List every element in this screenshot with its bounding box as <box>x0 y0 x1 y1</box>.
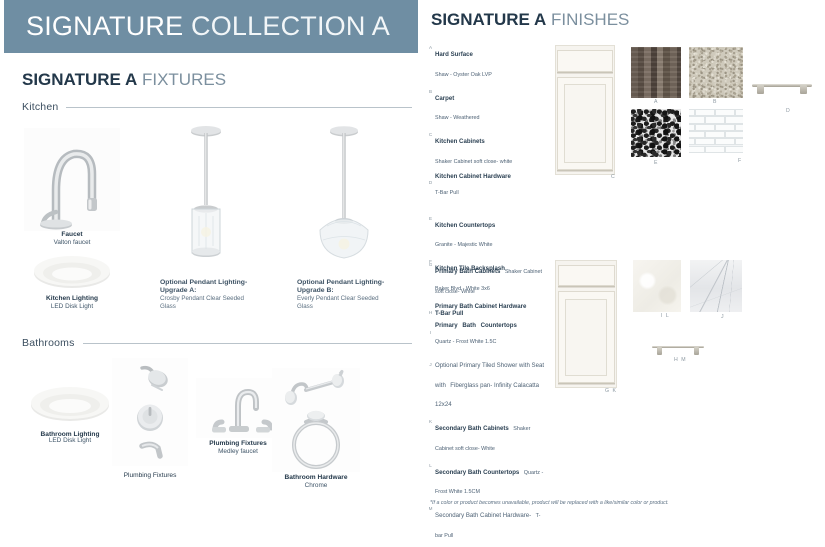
bathroom-lighting-sub: LED Disk Light <box>26 438 114 445</box>
collection-sheet: SIGNATURE COLLECTION A SIGNATURE A FIXTU… <box>0 0 825 521</box>
section-header-bathrooms: Bathrooms <box>22 337 412 349</box>
legend-key: B <box>426 86 435 125</box>
legend-title: Secondary Bath Cabinet Hardware- <box>435 512 531 519</box>
tile-unit <box>735 138 743 145</box>
swatch-caption-hm: H M <box>674 357 687 363</box>
legend-sub: Quartz - Frost White 1.5C <box>435 339 496 345</box>
swatch-quartz-countertop <box>633 260 681 312</box>
legend-row: B Carpet Shaw - Weathered <box>426 86 548 125</box>
legend-title: Primary Bath Cabinets <box>435 268 500 275</box>
swatch-caption-j: J <box>721 314 724 320</box>
tile-unit <box>689 131 705 138</box>
tile-unit <box>735 124 743 131</box>
legend-sub: Granite - Majestic White <box>435 242 493 248</box>
tile-unit <box>725 131 743 138</box>
legend-text: Kitchen Cabinets Shaker Cabinet soft clo… <box>435 129 548 168</box>
cabinet-inset <box>565 299 608 376</box>
tile-unit <box>705 131 725 138</box>
footnote: *If a color or product becomes unavailab… <box>430 500 810 506</box>
legend-sub: Shaw - Weathered <box>435 115 480 121</box>
swatch-caption-c: C <box>611 174 615 180</box>
legend-title: Secondary Bath Countertops <box>435 469 519 476</box>
legend-sub: Shaker Cabinet soft close- white <box>435 159 512 165</box>
pendant-a-sub: Crosby Pendant Clear Seeded Glass <box>160 295 250 310</box>
legend-key: A <box>426 42 435 81</box>
plumbing-set-caption: Plumbing Fixtures <box>112 472 188 480</box>
legend-text: Optional Primary Tiled Shower with Seat … <box>435 353 548 412</box>
swatch-bath-hardware-pull <box>652 340 704 355</box>
legend-row: G Primary Bath Cabinets Shaker Cabinet s… <box>426 259 548 298</box>
swatch-kitchen-hardware-pull <box>752 78 812 94</box>
legend-text: Secondary Bath Cabinet Hardware- T-bar P… <box>435 503 548 542</box>
tile-unit <box>705 116 725 123</box>
kitchen-lighting-image <box>28 252 116 292</box>
legend-title: Hard Surface <box>435 51 473 58</box>
kitchen-lighting-title: Kitchen Lighting <box>28 295 116 303</box>
cabinet-panel <box>557 77 612 170</box>
swatch-caption-gk: G K <box>605 388 617 394</box>
legend-title: Kitchen Cabinets <box>435 138 485 145</box>
pull-post <box>657 347 663 356</box>
fixture-pendant-b: Optional Pendant Lighting- Upgrade B: Ev… <box>297 120 389 310</box>
fixtures-heading: SIGNATURE A FIXTURES <box>22 70 226 90</box>
bathroom-hardware-title: Bathroom Hardware <box>272 474 360 482</box>
tile-unit <box>695 124 715 131</box>
pull-post <box>694 347 700 356</box>
legend-text: Secondary Bath Cabinets Shaker Cabinet s… <box>435 416 548 455</box>
swatch-granite-countertop <box>631 109 681 157</box>
legend-row: M Secondary Bath Cabinet Hardware- T-bar… <box>426 503 548 542</box>
fixtures-heading-bold: SIGNATURE A <box>22 70 137 89</box>
legend-sub: Shaw - Oyster Oak LVP <box>435 72 492 78</box>
bathroom-hardware-sub: Chrome <box>272 482 360 490</box>
swatch-caption-e: E <box>654 160 658 166</box>
swatch-caption-d: D <box>786 108 790 114</box>
fixture-kitchen-lighting: Kitchen Lighting LED Disk Light <box>28 252 116 310</box>
legend-key: L <box>426 460 435 499</box>
tile-unit <box>715 109 735 116</box>
legend-text: Primary Bath Cabinets Shaker Cabinet sof… <box>435 259 548 298</box>
section-rule <box>83 343 412 344</box>
fixtures-panel: SIGNATURE COLLECTION A SIGNATURE A FIXTU… <box>0 0 418 521</box>
kitchen-lighting-caption: Kitchen Lighting LED Disk Light <box>28 295 116 310</box>
swatch-marble-tile <box>690 260 742 312</box>
pendant-b-image <box>309 120 389 275</box>
fixture-bathroom-lighting: Bathroom Lighting LED Disk Light <box>26 383 114 445</box>
legend-text: Primary Bath Cabinet Hardware T-Bar Pull <box>435 303 548 318</box>
swatch-caption-b: B <box>713 99 717 105</box>
legend-text: Carpet Shaw - Weathered <box>435 86 548 125</box>
legend-key: K <box>426 416 435 455</box>
legend-title: Kitchen Cabinet Hardware <box>435 173 548 180</box>
faucet-image <box>24 128 120 231</box>
cabinet-drawer <box>557 50 612 72</box>
medley-faucet-image <box>196 378 280 438</box>
legend-row: L Secondary Bath Countertops Quartz - Fr… <box>426 460 548 499</box>
legend-title: Carpet <box>435 95 454 102</box>
pendant-b-sub: Everly Pendant Clear Seeded Glass <box>297 295 389 310</box>
fixture-bathroom-hardware: Bathroom Hardware Chrome <box>272 368 360 489</box>
pull-post <box>757 85 764 94</box>
faucet-sub: Valton faucet <box>24 239 120 247</box>
kitchen-lighting-sub: LED Disk Light <box>28 303 116 311</box>
section-label-kitchen: Kitchen <box>22 101 66 113</box>
swatch-hard-surface <box>631 47 681 98</box>
legend-title: Primary Bath Countertops <box>435 322 548 329</box>
legend-row: D Kitchen Cabinet Hardware T-Bar Pull <box>426 173 548 200</box>
bathroom-lighting-caption: Bathroom Lighting LED Disk Light <box>26 431 114 445</box>
legend-key: J <box>426 353 435 412</box>
legend-text: Kitchen Cabinet Hardware T-Bar Pull <box>435 173 548 200</box>
legend-row: J Optional Primary Tiled Shower with Sea… <box>426 353 548 412</box>
finishes-panel: SIGNATURE A FINISHES A Hard Surface Shaw… <box>418 0 825 521</box>
legend-row: C Kitchen Cabinets Shaker Cabinet soft c… <box>426 129 548 168</box>
legend-row: A Hard Surface Shaw - Oyster Oak LVP <box>426 42 548 81</box>
cabinet-inset <box>564 84 605 163</box>
plumbing-set-title: Plumbing Fixtures <box>112 472 188 480</box>
swatch-caption-f: F <box>738 158 742 164</box>
legend-sub: T-Bar Pull <box>435 190 459 196</box>
legend-key: H <box>426 303 435 318</box>
legend-title: Kitchen Countertops <box>435 222 495 229</box>
tile-unit <box>689 116 705 123</box>
page-title-bold: SIGNATURE <box>26 11 183 41</box>
cabinet-drawer <box>558 265 615 286</box>
tile-unit <box>689 146 705 153</box>
bathroom-lighting-image <box>26 383 114 425</box>
pendant-b-title: Optional Pendant Lighting- Upgrade B: <box>297 279 389 295</box>
medley-faucet-caption: Plumbing Fixtures Medley faucet <box>196 440 280 455</box>
pendant-a-image <box>174 120 250 275</box>
fixtures-heading-light: FIXTURES <box>142 70 226 89</box>
finishes-heading-light: FINISHES <box>551 10 629 29</box>
tile-unit <box>695 109 715 116</box>
legend-sub: Fiberglass pan- Infinity Calacatta 12x24 <box>435 382 539 409</box>
pendant-a-title: Optional Pendant Lighting- Upgrade A: <box>160 279 250 295</box>
legend-row: E Kitchen Countertops Granite - Majestic… <box>426 213 548 252</box>
finishes-heading-bold: SIGNATURE A <box>431 10 546 29</box>
legend-sub: T-Bar Pull <box>435 310 548 317</box>
tile-unit <box>705 146 725 153</box>
faucet-title: Faucet <box>24 231 120 239</box>
section-rule <box>66 107 412 108</box>
legend-key: M <box>426 503 435 542</box>
legend-row: K Secondary Bath Cabinets Shaker Cabinet… <box>426 416 548 455</box>
swatch-kitchen-cabinet-door <box>555 45 615 175</box>
legend-key: G <box>426 259 435 298</box>
legend-row: H Primary Bath Cabinet Hardware T-Bar Pu… <box>426 303 548 318</box>
legend-text: Kitchen Countertops Granite - Majestic W… <box>435 213 548 252</box>
swatch-carpet <box>689 47 743 98</box>
legend-key: D <box>426 173 435 200</box>
pendant-b-caption: Optional Pendant Lighting- Upgrade B: Ev… <box>297 279 389 310</box>
legend-title: Secondary Bath Cabinets <box>435 425 509 432</box>
fixture-plumbing-set: Plumbing Fixtures <box>112 358 188 480</box>
finishes-heading: SIGNATURE A FINISHES <box>431 10 629 30</box>
cabinet-panel <box>558 291 615 383</box>
legend-title: Primary Bath Cabinet Hardware <box>435 303 548 310</box>
legend-text: Hard Surface Shaw - Oyster Oak LVP <box>435 42 548 81</box>
tile-unit <box>715 138 735 145</box>
legend-key: C <box>426 129 435 168</box>
pull-post <box>800 85 807 94</box>
tile-unit <box>735 109 743 116</box>
swatch-subway-tile <box>689 109 743 153</box>
section-header-kitchen: Kitchen <box>22 101 412 113</box>
medley-faucet-title: Plumbing Fixtures <box>196 440 280 448</box>
faucet-caption: Faucet Valton faucet <box>24 231 120 246</box>
fixture-faucet: Faucet Valton faucet <box>24 128 120 246</box>
page-title: SIGNATURE COLLECTION A <box>26 11 390 42</box>
tile-unit <box>725 146 743 153</box>
pendant-a-caption: Optional Pendant Lighting- Upgrade A: Cr… <box>160 279 250 310</box>
section-label-bathrooms: Bathrooms <box>22 337 83 349</box>
swatch-bath-cabinet-door <box>555 260 617 388</box>
medley-faucet-sub: Medley faucet <box>196 448 280 456</box>
fixture-pendant-a: Optional Pendant Lighting- Upgrade A: Cr… <box>160 120 250 310</box>
fixture-medley-faucet: Plumbing Fixtures Medley faucet <box>196 378 280 455</box>
bathroom-hardware-caption: Bathroom Hardware Chrome <box>272 474 360 489</box>
tile-unit <box>695 138 715 145</box>
hero-banner: SIGNATURE COLLECTION A <box>4 0 418 53</box>
legend-key: E <box>426 213 435 252</box>
legend-text: Secondary Bath Countertops Quartz - Fros… <box>435 460 548 499</box>
tile-unit <box>715 124 735 131</box>
bathroom-hardware-image <box>272 368 360 472</box>
swatch-caption-il: I L <box>661 313 670 319</box>
swatch-caption-a: A <box>654 99 658 105</box>
legend-text: Primary Bath Countertops Quartz - Frost … <box>435 322 548 349</box>
legend-key: I <box>426 322 435 349</box>
tile-unit <box>725 116 743 123</box>
legend-row: I Primary Bath Countertops Quartz - Fros… <box>426 322 548 349</box>
page-title-light: COLLECTION A <box>191 11 390 41</box>
plumbing-set-image <box>112 358 188 466</box>
